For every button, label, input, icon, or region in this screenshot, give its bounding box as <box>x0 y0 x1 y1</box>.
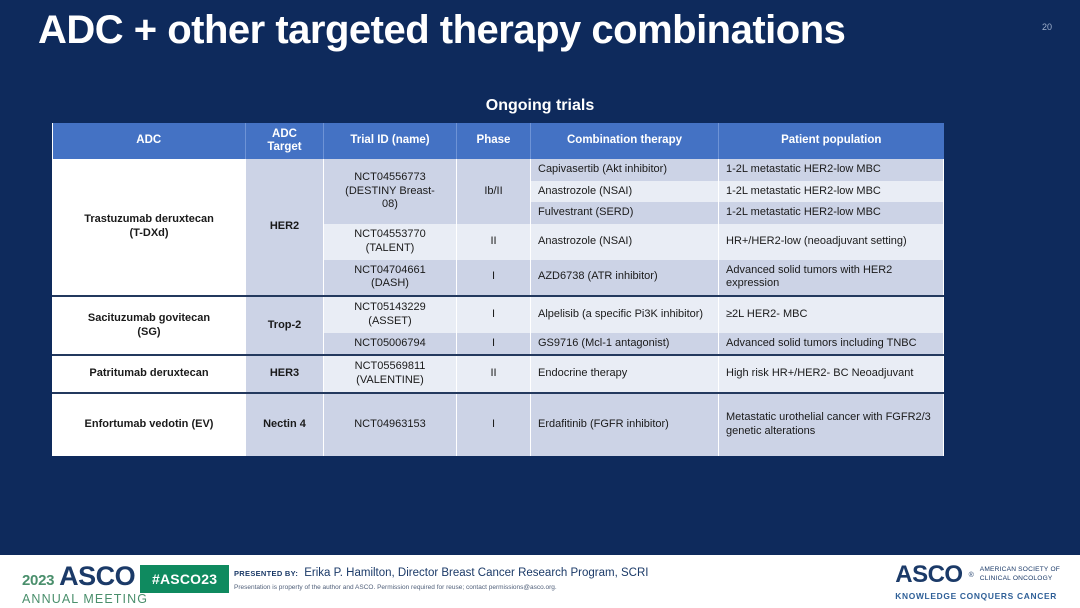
cell-trial-id: NCT05143229 (ASSET) <box>324 296 457 333</box>
column-header-patient-population: Patient population <box>719 123 944 159</box>
cell-adc: Trastuzumab deruxtecan (T-DXd) <box>53 159 246 296</box>
cell-combination-therapy: GS9716 (Mcl-1 antagonist) <box>531 333 719 356</box>
cell-adc-target: Nectin 4 <box>246 393 324 456</box>
cell-combination-therapy: Capivasertib (Akt inhibitor) <box>531 159 719 181</box>
cell-patient-population: Advanced solid tumors including TNBC <box>719 333 944 356</box>
trial-id-line3: 08) <box>382 198 398 210</box>
trial-id-line2: (ASSET) <box>368 315 411 327</box>
cell-patient-population: HR+/HER2-low (neoadjuvant setting) <box>719 224 944 260</box>
cell-patient-population: High risk HR+/HER2- BC Neoadjuvant <box>719 355 944 393</box>
column-header-phase: Phase <box>457 123 531 159</box>
asco-organization-logo: ASCO ® AMERICAN SOCIETY OF CLINICAL ONCO… <box>895 563 1060 601</box>
trial-id-line2: (DESTINY Breast- <box>345 185 435 197</box>
cell-adc: Patritumab deruxtecan <box>53 355 246 393</box>
meeting-brand: ASCO <box>59 563 135 590</box>
column-header-adc-target: ADC Target <box>246 123 324 159</box>
cell-trial-id: NCT05006794 <box>324 333 457 356</box>
cell-trial-id: NCT04553770 (TALENT) <box>324 224 457 260</box>
trials-table: ADC ADC Target Trial ID (name) Phase Com… <box>52 123 944 456</box>
cell-patient-population: 1-2L metastatic HER2-low MBC <box>719 181 944 203</box>
adc-name-line1: Enfortumab vedotin (EV) <box>85 418 214 430</box>
org-tagline: KNOWLEDGE CONQUERS CANCER <box>895 591 1060 601</box>
trial-id-line1: NCT04553770 <box>354 228 426 240</box>
cell-phase: Ib/II <box>457 159 531 224</box>
trial-id-line1: NCT04704661 <box>354 264 426 276</box>
trial-id-line2: (TALENT) <box>366 242 415 254</box>
org-brand: ASCO <box>895 563 962 587</box>
org-name-line1: AMERICAN SOCIETY OF <box>980 566 1060 573</box>
cell-patient-population: 1-2L metastatic HER2-low MBC <box>719 202 944 224</box>
cell-trial-id: NCT04963153 <box>324 393 457 456</box>
cell-patient-population: Metastatic urothelial cancer with FGFR2/… <box>719 393 944 456</box>
cell-adc: Enfortumab vedotin (EV) <box>53 393 246 456</box>
page-title: ADC + other targeted therapy combination… <box>38 8 845 53</box>
cell-trial-id: NCT04704661 (DASH) <box>324 260 457 297</box>
org-name-line2: CLINICAL ONCOLOGY <box>980 575 1053 582</box>
cell-adc-target: HER2 <box>246 159 324 296</box>
cell-phase: I <box>457 296 531 333</box>
trial-id-line1: NCT05569811 <box>355 360 426 372</box>
hashtag-badge: #ASCO23 <box>140 565 229 593</box>
table-body: Trastuzumab deruxtecan (T-DXd) HER2 NCT0… <box>53 159 944 456</box>
meeting-year: 2023 <box>22 573 54 588</box>
adc-name-line2: (T-DXd) <box>129 227 168 239</box>
trial-id-line2: (DASH) <box>371 277 409 289</box>
cell-phase: II <box>457 355 531 393</box>
cell-phase: I <box>457 333 531 356</box>
cell-trial-id: NCT04556773 (DESTINY Breast- 08) <box>324 159 457 224</box>
slide-page-number: 20 <box>1042 22 1052 32</box>
meeting-subtitle: ANNUAL MEETING <box>22 593 148 606</box>
table-header: ADC ADC Target Trial ID (name) Phase Com… <box>53 123 944 159</box>
table-caption: Ongoing trials <box>0 97 1080 115</box>
column-header-combination-therapy: Combination therapy <box>531 123 719 159</box>
asco-annual-meeting-logo: 2023 ASCO ® ANNUAL MEETING <box>22 563 148 606</box>
cell-patient-population: ≥2L HER2- MBC <box>719 296 944 333</box>
trial-id-line1: NCT05006794 <box>354 337 426 349</box>
trial-id-line1: NCT04556773 <box>354 171 426 183</box>
cell-combination-therapy: Alpelisib (a specific Pi3K inhibitor) <box>531 296 719 333</box>
column-header-trial-id: Trial ID (name) <box>324 123 457 159</box>
slide-footer: 2023 ASCO ® ANNUAL MEETING #ASCO23 PRESE… <box>0 552 1080 608</box>
cell-phase: I <box>457 393 531 456</box>
trials-table-container: ADC ADC Target Trial ID (name) Phase Com… <box>52 123 943 456</box>
trademark-symbol: ® <box>969 572 974 579</box>
table-row: Patritumab deruxtecan HER3 NCT05569811 (… <box>53 355 944 393</box>
cell-phase: I <box>457 260 531 297</box>
cell-adc: Sacituzumab govitecan (SG) <box>53 296 246 355</box>
cell-patient-population: Advanced solid tumors with HER2 expressi… <box>719 260 944 297</box>
adc-name-line2: (SG) <box>137 326 160 338</box>
adc-name-line1: Sacituzumab govitecan <box>88 312 210 324</box>
cell-trial-id: NCT05569811 (VALENTINE) <box>324 355 457 393</box>
cell-combination-therapy: AZD6738 (ATR inhibitor) <box>531 260 719 297</box>
cell-phase: II <box>457 224 531 260</box>
table-header-row: ADC ADC Target Trial ID (name) Phase Com… <box>53 123 944 159</box>
column-header-adc-target-line1: ADC <box>272 128 297 140</box>
cell-combination-therapy: Fulvestrant (SERD) <box>531 202 719 224</box>
trial-id-line1: NCT05143229 <box>354 301 426 313</box>
adc-name-line1: Patritumab deruxtecan <box>89 367 208 379</box>
table-row: Trastuzumab deruxtecan (T-DXd) HER2 NCT0… <box>53 159 944 181</box>
column-header-adc-target-line2: Target <box>267 141 301 153</box>
cell-patient-population: 1-2L metastatic HER2-low MBC <box>719 159 944 181</box>
cell-combination-therapy: Anastrozole (NSAI) <box>531 181 719 203</box>
cell-combination-therapy: Anastrozole (NSAI) <box>531 224 719 260</box>
cell-combination-therapy: Erdafitinib (FGFR inhibitor) <box>531 393 719 456</box>
trial-id-line1: NCT04963153 <box>354 418 426 430</box>
column-header-adc: ADC <box>53 123 246 159</box>
trial-id-line2: (VALENTINE) <box>356 374 424 386</box>
copyright-disclaimer: Presentation is property of the author a… <box>234 584 648 591</box>
presented-by-label: PRESENTED BY: <box>234 569 298 578</box>
presenter-block: PRESENTED BY: Erika P. Hamilton, Directo… <box>234 567 648 591</box>
org-full-name: AMERICAN SOCIETY OF CLINICAL ONCOLOGY <box>980 566 1060 584</box>
cell-combination-therapy: Endocrine therapy <box>531 355 719 393</box>
cell-adc-target: Trop-2 <box>246 296 324 355</box>
table-row: Sacituzumab govitecan (SG) Trop-2 NCT051… <box>53 296 944 333</box>
cell-adc-target: HER3 <box>246 355 324 393</box>
table-row: Enfortumab vedotin (EV) Nectin 4 NCT0496… <box>53 393 944 456</box>
adc-name-line1: Trastuzumab deruxtecan <box>84 213 214 225</box>
presenter-name: Erika P. Hamilton, Director Breast Cance… <box>304 567 648 579</box>
